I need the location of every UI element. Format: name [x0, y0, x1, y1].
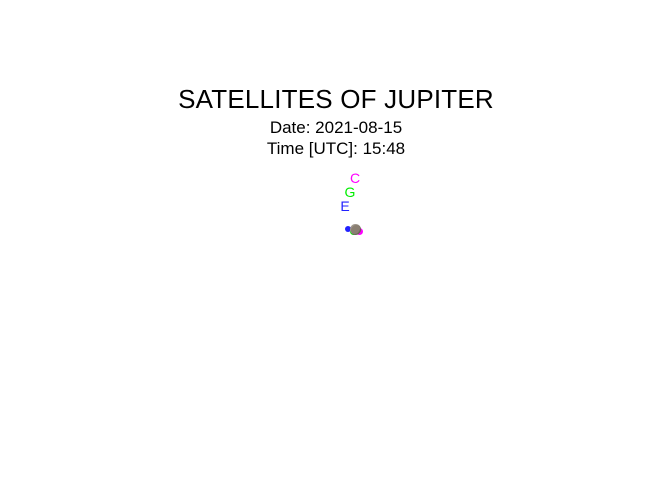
jupiter-disk	[350, 224, 361, 235]
moon-label-ganymede: G	[344, 185, 356, 199]
jupiter-satellites-figure: SATELLITES OF JUPITER Date: 2021-08-15 T…	[0, 0, 672, 480]
moon-label-callisto: C	[349, 171, 361, 185]
sky-plot-area: C G E	[0, 0, 672, 480]
moon-label-europa: E	[339, 199, 351, 213]
